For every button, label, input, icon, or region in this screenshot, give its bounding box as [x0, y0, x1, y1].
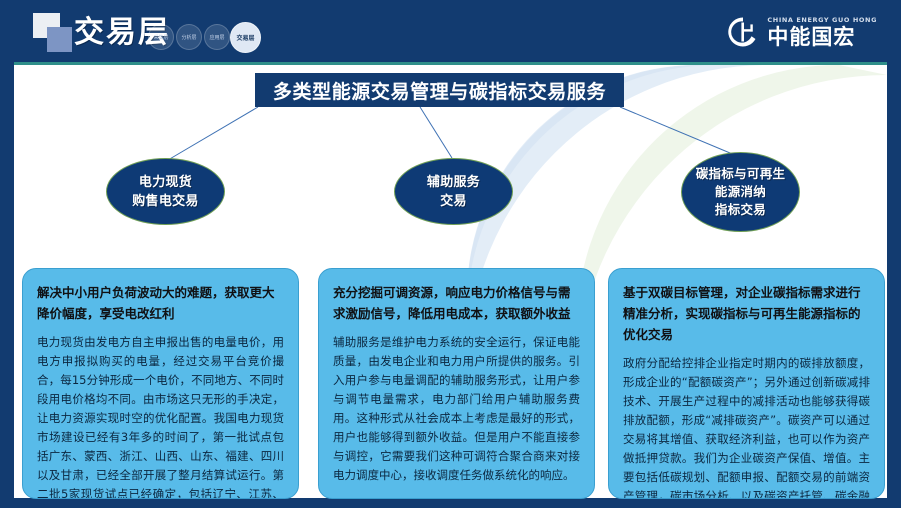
node-2-line-2: 交易	[427, 192, 480, 211]
layer-pill-transaction-active[interactable]: 交易层	[230, 22, 261, 53]
banner-title-box: 多类型能源交易管理与碳指标交易服务	[255, 73, 624, 107]
guohong-circle-logo-icon	[726, 15, 760, 49]
company-logo: CHINA ENERGY GUO HONG 中能国宏	[726, 12, 877, 52]
card-spot-power-trading: 解决中小用户负荷波动大的难题，获取更大降价幅度，享受电改红利 电力现货由发电方自…	[22, 268, 299, 499]
banner-title-text: 多类型能源交易管理与碳指标交易服务	[273, 77, 606, 104]
two-squares-logo-icon	[33, 13, 79, 53]
node-1-line-1: 电力现货	[132, 173, 199, 192]
header-accent-rule	[14, 62, 887, 65]
node-1-line-2: 购售电交易	[132, 192, 199, 211]
layer-pill-application[interactable]: 应用层	[204, 24, 230, 50]
node-3-line-1: 碳指标与可再生	[696, 165, 786, 183]
card-ancillary-services: 充分挖掘可调资源，响应电力价格信号与需求激励信号，降低用电成本，获取额外收益 辅…	[318, 268, 595, 499]
node-3-line-3: 指标交易	[696, 201, 786, 219]
card-1-heading: 解决中小用户负荷波动大的难题，获取更大降价幅度，享受电改红利	[37, 282, 284, 324]
card-1-body: 电力现货由发电方自主申报出售的电量电价，用电方申报拟购买的电量，经过交易平台竞价…	[37, 333, 284, 499]
header-bar: 交易层 采集层 分析层 应用层 交易层 CHINA ENERGY GUO HON…	[0, 0, 901, 65]
card-2-heading: 充分挖掘可调资源，响应电力价格信号与需求激励信号，降低用电成本，获取额外收益	[333, 282, 580, 324]
node-ancillary-services[interactable]: 辅助服务 交易	[394, 158, 513, 225]
layer-pill-analysis[interactable]: 分析层	[176, 24, 202, 50]
logo-square-blue	[47, 27, 72, 52]
slide-root: 交易层 采集层 分析层 应用层 交易层 CHINA ENERGY GUO HON…	[0, 0, 901, 508]
node-spot-power-trading[interactable]: 电力现货 购售电交易	[106, 158, 225, 225]
card-2-body: 辅助服务是维护电力系统的安全运行，保证电能质量，由发电企业和电力用户所提供的服务…	[333, 333, 580, 485]
card-carbon-renewable-index: 基于双碳目标管理，对企业碳指标需求进行精准分析，实现碳指标与可再生能源指标的优化…	[608, 268, 885, 499]
brand-english-name: CHINA ENERGY GUO HONG	[767, 16, 877, 24]
node-carbon-renewable-index[interactable]: 碳指标与可再生 能源消纳 指标交易	[681, 152, 800, 232]
node-1-label: 电力现货 购售电交易	[132, 173, 199, 211]
node-2-label: 辅助服务 交易	[427, 173, 480, 211]
brand-chinese-name: 中能国宏	[767, 26, 877, 48]
node-3-line-2: 能源消纳	[696, 183, 786, 201]
brand-text-block: CHINA ENERGY GUO HONG 中能国宏	[767, 16, 877, 48]
layer-pill-collection[interactable]: 采集层	[148, 24, 174, 50]
node-2-line-1: 辅助服务	[427, 173, 480, 192]
card-3-body: 政府分配给控排企业指定时期内的碳排放额度，形成企业的“配额碳资产”；另外通过创新…	[623, 354, 870, 499]
node-3-label: 碳指标与可再生 能源消纳 指标交易	[696, 165, 786, 219]
card-3-heading: 基于双碳目标管理，对企业碳指标需求进行精准分析，实现碳指标与可再生能源指标的优化…	[623, 282, 870, 345]
